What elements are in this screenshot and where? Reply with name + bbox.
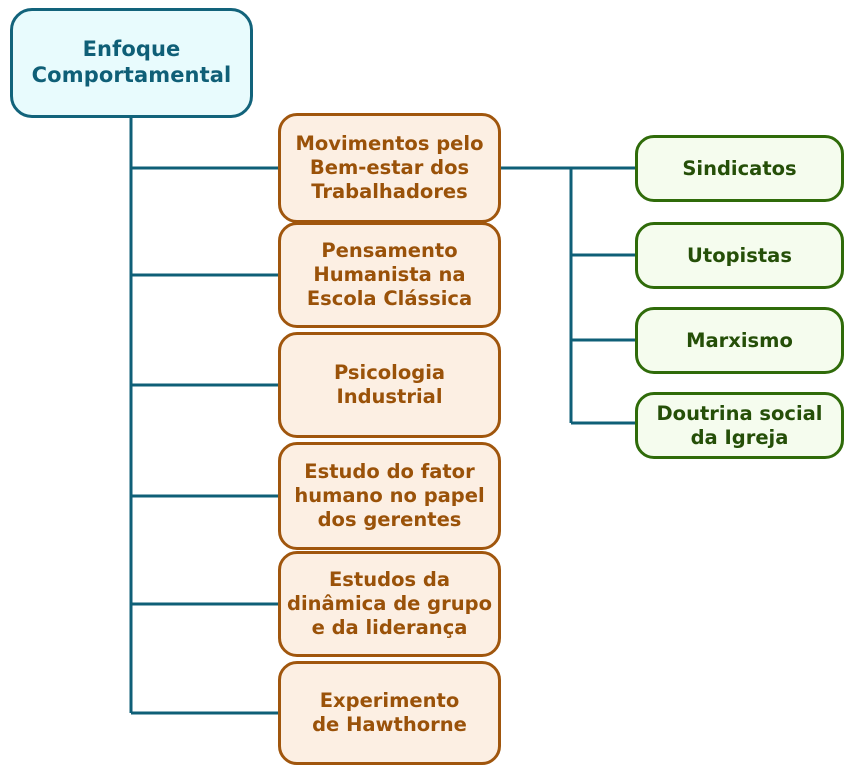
branch-node-4[interactable]: Estudo do fator humano no papel dos gere…	[278, 442, 501, 550]
branch-node-1[interactable]: Movimentos pelo Bem-estar dos Trabalhado…	[278, 113, 501, 223]
branch-node-5[interactable]: Estudos da dinâmica de grupo e da lidera…	[278, 551, 501, 657]
branch-node-2[interactable]: Pensamento Humanista na Escola Clássica	[278, 222, 501, 328]
leaf-node-4[interactable]: Doutrina social da Igreja	[635, 392, 844, 459]
branch-node-3[interactable]: Psicologia Industrial	[278, 332, 501, 438]
behavioral-approach-tree-diagram: Enfoque Comportamental Movimentos pelo B…	[0, 0, 864, 771]
leaf-node-3[interactable]: Marxismo	[635, 307, 844, 374]
leaf-node-2[interactable]: Utopistas	[635, 222, 844, 289]
leaf-node-1[interactable]: Sindicatos	[635, 135, 844, 202]
branch-node-6[interactable]: Experimento de Hawthorne	[278, 661, 501, 765]
root-node-enfoque-comportamental[interactable]: Enfoque Comportamental	[10, 8, 253, 118]
